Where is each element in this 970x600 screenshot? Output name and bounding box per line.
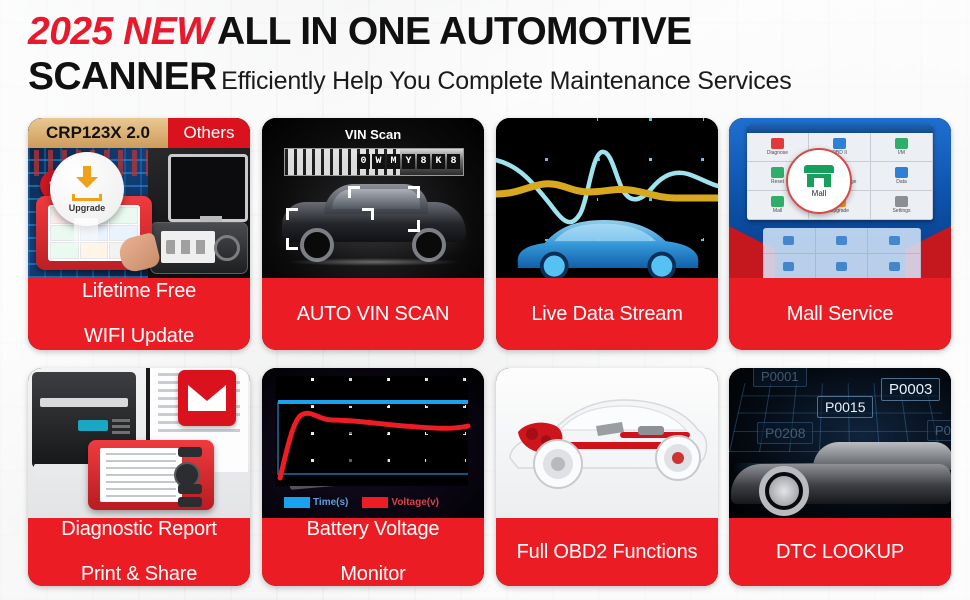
scan-bracket-icon [348, 186, 374, 210]
card-label: Lifetime Free WIFI Update [28, 278, 250, 350]
card-label: Mall Service [729, 278, 951, 350]
download-tray-icon [72, 194, 102, 201]
scanner-device [88, 440, 214, 510]
page-header: 2025 NEW ALL IN ONE AUTOMOTIVE SCANNER E… [0, 0, 970, 108]
card-art-vin: VIN Scan 0 W M Y 8 K 8 [262, 118, 484, 278]
scanner-key [178, 484, 202, 494]
card-label: Diagnostic Report Print & Share [28, 518, 250, 586]
scanner-key [178, 447, 202, 457]
vin-char: Y [402, 154, 415, 169]
page-title-2: SCANNER [28, 55, 217, 98]
download-icon [73, 166, 101, 194]
scanner-key [178, 497, 202, 507]
car-chassis-graphic [500, 382, 714, 506]
feature-card-auto-vin-scan[interactable]: VIN Scan 0 W M Y 8 K 8 [262, 118, 484, 350]
competitor-screen [161, 231, 215, 263]
legend-item-voltage: Voltage(v) [362, 497, 439, 508]
card-art-mall: Diagnose OBD II I/M Reset Battery Voltag… [729, 118, 951, 278]
comparison-header: CRP123X 2.0 Others [28, 118, 250, 148]
card-label-text: Mall Service [781, 303, 900, 325]
app-tile-label: Settings [892, 208, 910, 214]
header-line-1: 2025 NEW ALL IN ONE AUTOMOTIVE [28, 10, 691, 54]
card-art-dtc: P0001 P0003 P0015 P0208 P0 [729, 368, 951, 518]
card-label-line1: Battery Voltage [301, 518, 446, 540]
envelope-icon [188, 385, 226, 411]
diagnose-icon [771, 138, 784, 149]
battery-chart-lines [262, 368, 484, 518]
card-art-obd2 [496, 368, 718, 518]
card-label-line2: Print & Share [55, 563, 223, 585]
card-label-text: Live Data Stream [525, 303, 688, 325]
app-tile-label: Data [896, 179, 907, 185]
competitor-dpad [214, 235, 240, 261]
dtc-code: P0001 [753, 368, 807, 387]
page-title: ALL IN ONE AUTOMOTIVE [217, 10, 691, 53]
battery-chart-legend: Time(s) Voltage(v) [284, 497, 464, 508]
vin-char: 0 [357, 154, 370, 169]
card-label: Battery Voltage Monitor [262, 518, 484, 586]
vin-char: K [432, 154, 445, 169]
scanner-screen [100, 448, 182, 502]
tablet-reflection [763, 228, 921, 278]
mall-highlight-label: Mall [812, 189, 827, 198]
dtc-code: P0003 [881, 378, 940, 401]
mall-highlight-callout: Mall [786, 148, 852, 214]
legend-item-time: Time(s) [284, 497, 348, 508]
card-label-line2: Monitor [301, 563, 446, 585]
feature-card-diagnostic-report[interactable]: Diagnostic Report Print & Share [28, 368, 250, 586]
card-label-line1: Diagnostic Report [55, 518, 223, 540]
printer-display [78, 420, 108, 431]
others-side-background [148, 146, 250, 278]
app-tile-im[interactable]: I/M [871, 133, 933, 162]
card-label-line2: WIFI Update [76, 325, 202, 347]
legend-swatch-time [284, 497, 310, 508]
app-tile-label: Diagnose [767, 150, 788, 156]
card-label-text: DTC LOOKUP [770, 541, 910, 563]
vin-char: W [372, 154, 385, 169]
feature-card-live-data-stream[interactable]: Live Data Stream [496, 118, 718, 350]
feature-card-lifetime-wifi-update[interactable]: Upgrade CRP123X 2.0 Others Lifetime Free… [28, 118, 250, 350]
card-label: AUTO VIN SCAN [262, 278, 484, 350]
xray-car-graphic [512, 206, 704, 278]
upgrade-callout: Upgrade [50, 152, 124, 226]
printer-keypad [112, 418, 130, 434]
feature-card-battery-voltage-monitor[interactable]: Time(s) Voltage(v) Battery Voltage Monit… [262, 368, 484, 586]
tablet-status-bar [747, 124, 933, 133]
dtc-car-graphic [729, 434, 951, 518]
legend-label-time: Time(s) [313, 497, 348, 508]
card-label: Full OBD2 Functions [496, 518, 718, 586]
compare-others-name: Others [168, 118, 250, 148]
scan-bracket-icon [394, 186, 420, 210]
card-art-compare: Upgrade CRP123X 2.0 Others [28, 118, 250, 278]
feature-card-mall-service[interactable]: Diagnose OBD II I/M Reset Battery Voltag… [729, 118, 951, 350]
legend-label-voltage: Voltage(v) [391, 497, 439, 508]
new-badge-text: 2025 NEW [28, 10, 213, 53]
card-art-report [28, 368, 250, 518]
email-share-icon [178, 370, 236, 426]
legend-swatch-voltage [362, 497, 388, 508]
scan-bracket-icon [348, 208, 374, 232]
card-label-text: Full OBD2 Functions [511, 541, 704, 563]
card-label: DTC LOOKUP [729, 518, 951, 586]
card-label-text: AUTO VIN SCAN [291, 303, 456, 325]
card-art-battery: Time(s) Voltage(v) [262, 368, 484, 518]
card-label: Live Data Stream [496, 278, 718, 350]
feature-grid: Upgrade CRP123X 2.0 Others Lifetime Free… [0, 114, 970, 596]
mall-icon [771, 196, 784, 207]
feature-card-dtc-lookup[interactable]: P0001 P0003 P0015 P0208 P0 DTC LOOKUP [729, 368, 951, 586]
vin-char: 8 [447, 154, 460, 169]
app-tile-label: I/M [898, 150, 905, 156]
vin-car-graphic [276, 180, 472, 266]
vin-scan-title: VIN Scan [262, 127, 484, 142]
scan-bracket-icon [286, 226, 312, 250]
app-tile-label: Mall [773, 208, 782, 214]
im-icon [895, 138, 908, 149]
obd2-icon [833, 138, 846, 149]
upgrade-callout-label: Upgrade [69, 203, 106, 213]
card-label-line1: Lifetime Free [76, 280, 202, 302]
data-icon [895, 167, 908, 178]
vin-characters: 0 W M Y 8 K 8 [357, 154, 460, 169]
compare-product-name: CRP123X 2.0 [28, 118, 168, 148]
competitor-device [150, 222, 248, 274]
vin-barcode-strip: 0 W M Y 8 K 8 [284, 148, 464, 176]
app-tile-data[interactable]: Data [871, 162, 933, 191]
card-art-live-data [496, 118, 718, 278]
storefront-icon [804, 165, 834, 187]
app-tile-settings[interactable]: Settings [871, 191, 933, 220]
vin-char: 8 [417, 154, 430, 169]
dtc-code: P0015 [817, 396, 873, 418]
vin-char: M [387, 154, 400, 169]
page-root: 2025 NEW ALL IN ONE AUTOMOTIVE SCANNER E… [0, 0, 970, 600]
gear-icon [895, 196, 908, 207]
scan-bracket-icon [394, 208, 420, 232]
reset-icon [771, 167, 784, 178]
header-line-2: SCANNER Efficiently Help You Complete Ma… [28, 55, 792, 99]
monitor-graphic [168, 154, 248, 222]
feature-card-full-obd2-functions[interactable]: Full OBD2 Functions [496, 368, 718, 586]
page-subtitle: Efficiently Help You Complete Maintenanc… [221, 67, 791, 95]
app-tile-label: Reset [771, 179, 784, 185]
